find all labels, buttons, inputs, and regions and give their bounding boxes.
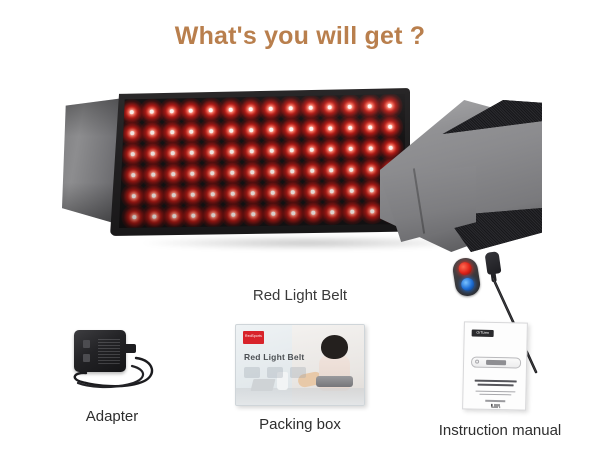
packing-box-laptop — [251, 379, 276, 391]
product-infographic: What's you will get ? R — [0, 0, 600, 450]
packing-box-feature-icon — [244, 367, 260, 378]
hero-product-image — [62, 80, 542, 270]
packing-box-feature-icon — [290, 367, 306, 378]
text-line — [479, 394, 512, 396]
included-items-row: Adapter RedSports Red Light Belt — [0, 322, 600, 442]
instruction-manual-page: OrTizen — [462, 321, 528, 410]
packing-box-brand-logo-text: RedSports — [244, 334, 263, 338]
text-line — [475, 391, 515, 393]
text-line — [475, 380, 516, 383]
instruction-manual-barcode — [491, 404, 500, 408]
item-packing-box: RedSports Red Light Belt Packing box — [208, 322, 392, 433]
packing-box-feature-icons — [244, 367, 306, 378]
packing-box-face: RedSports Red Light Belt — [235, 324, 365, 406]
packing-box-person-hair — [321, 335, 348, 359]
adapter-illustration — [52, 322, 172, 400]
item-label-instruction-manual: Instruction manual — [406, 422, 594, 439]
text-line — [478, 384, 514, 387]
adapter-prong — [83, 340, 90, 348]
packing-box-title: Red Light Belt — [244, 352, 304, 362]
instruction-manual-logo-text: OrTizen — [472, 331, 494, 336]
instruction-manual-product-tag — [486, 360, 506, 365]
packing-box-illustration: RedSports Red Light Belt — [235, 322, 365, 408]
item-instruction-manual: OrTizen Instruction manual — [406, 322, 594, 439]
item-label-adapter: Adapter — [22, 408, 202, 425]
item-label-packing-box: Packing box — [208, 416, 392, 433]
power-button[interactable] — [458, 261, 473, 276]
adapter-coiled-cable — [52, 356, 172, 396]
item-adapter: Adapter — [22, 322, 202, 425]
led-panel — [119, 94, 405, 228]
packing-box-person-belt — [316, 376, 353, 387]
instruction-manual-heading-text — [473, 380, 519, 389]
led-grid — [122, 95, 403, 228]
instruction-manual-illustration: OrTizen — [463, 322, 537, 414]
instruction-manual-footer-line — [485, 400, 505, 402]
adapter-cable-outlet — [124, 344, 136, 353]
instruction-manual-product-marker — [475, 360, 479, 364]
hero-caption: Red Light Belt — [0, 287, 600, 304]
page-title: What's you will get ? — [0, 22, 600, 51]
instruction-manual-body-text — [475, 391, 515, 398]
packing-box-feature-icon — [267, 367, 283, 378]
